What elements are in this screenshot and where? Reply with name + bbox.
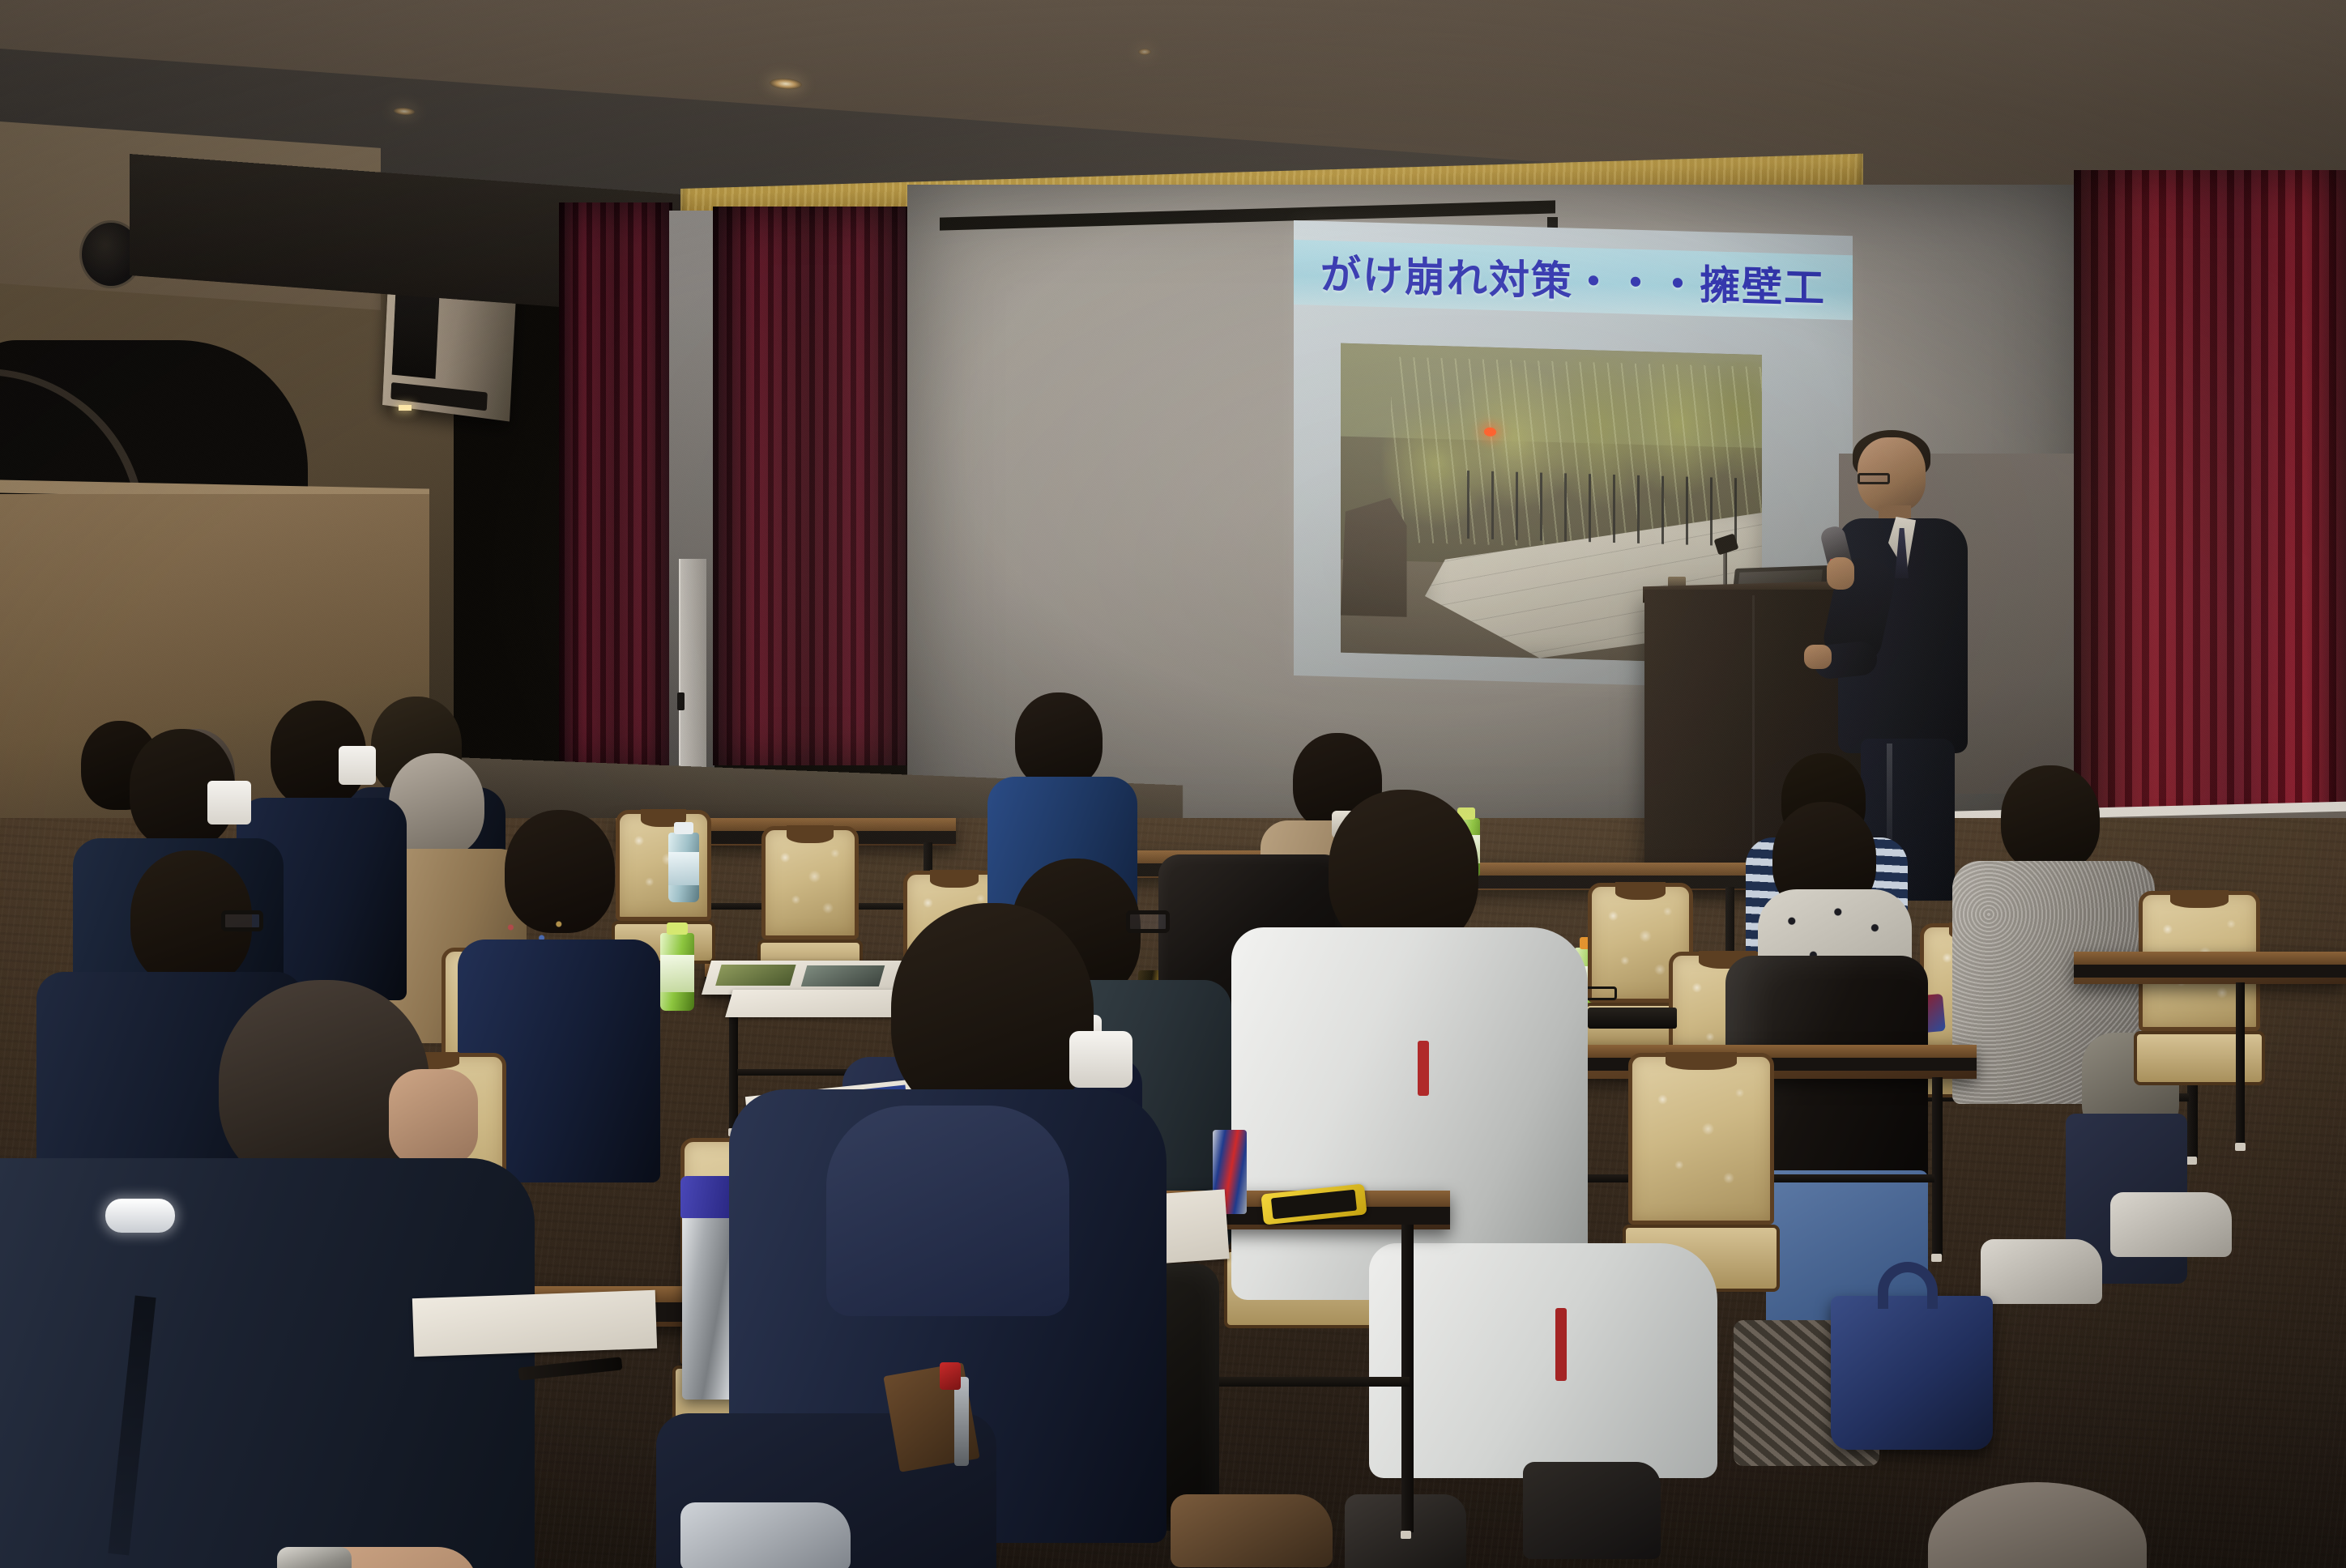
remote-control[interactable] <box>1588 1008 1677 1029</box>
head <box>1015 692 1103 788</box>
table-leg <box>2236 982 2245 1144</box>
chair-seat <box>2134 1031 2265 1085</box>
coverall-trousers <box>1369 1243 1717 1478</box>
stage-curtain-right <box>2074 170 2346 867</box>
glasses-icon <box>1858 473 1890 484</box>
water-bottle[interactable] <box>668 833 699 902</box>
face-mask-icon <box>339 746 376 785</box>
stage-door[interactable] <box>679 559 706 769</box>
stage-curtain-left <box>559 202 672 769</box>
stage-curtain-center <box>713 207 911 765</box>
ear-and-hand <box>389 1069 478 1166</box>
door-handle-icon[interactable] <box>677 692 685 710</box>
leather-shoe <box>1171 1494 1333 1567</box>
presenter-hand-on-podium <box>1804 645 1832 669</box>
coverall-red-stripe <box>1418 1041 1429 1096</box>
face-mask-icon <box>1069 1031 1132 1088</box>
handout-papers[interactable] <box>412 1290 657 1357</box>
presenter-hand <box>1827 557 1854 590</box>
podium-panel-seam <box>1752 595 1755 879</box>
chair-back <box>761 826 859 940</box>
sneaker <box>680 1502 851 1568</box>
lecture-hall-photo: がけ崩れ対策・・・擁壁工 <box>0 0 2346 1568</box>
slide-photo-guard-fence <box>1467 471 1745 547</box>
navy-work-jacket <box>0 1158 535 1568</box>
key-fob[interactable] <box>940 1362 961 1390</box>
bottle-label <box>660 955 694 992</box>
glasses-icon <box>221 910 263 931</box>
sneaker <box>2110 1192 2232 1257</box>
bottle-cap <box>674 822 693 834</box>
face-mask-icon <box>207 781 251 824</box>
glasses-icon <box>1126 910 1170 933</box>
head <box>2001 765 2100 872</box>
reflective-badge <box>105 1199 175 1233</box>
keychain[interactable] <box>954 1377 969 1466</box>
folding-table <box>2074 952 2346 984</box>
table-apron <box>2074 965 2346 978</box>
handbag[interactable] <box>1831 1296 1993 1450</box>
bottle-label <box>668 852 699 885</box>
green-tea-bottle[interactable] <box>660 933 694 1011</box>
shoe <box>1523 1462 1661 1559</box>
chair-back <box>1628 1053 1774 1225</box>
sneaker <box>1981 1239 2102 1304</box>
hood <box>826 1106 1069 1316</box>
trouser-red-stripe <box>1555 1308 1567 1381</box>
downlight-icon <box>1138 49 1151 55</box>
table-leg <box>1932 1077 1943 1255</box>
bottle-cap <box>667 922 689 935</box>
speaker-indicator-light <box>399 405 412 411</box>
wristwatch-icon <box>277 1547 352 1568</box>
